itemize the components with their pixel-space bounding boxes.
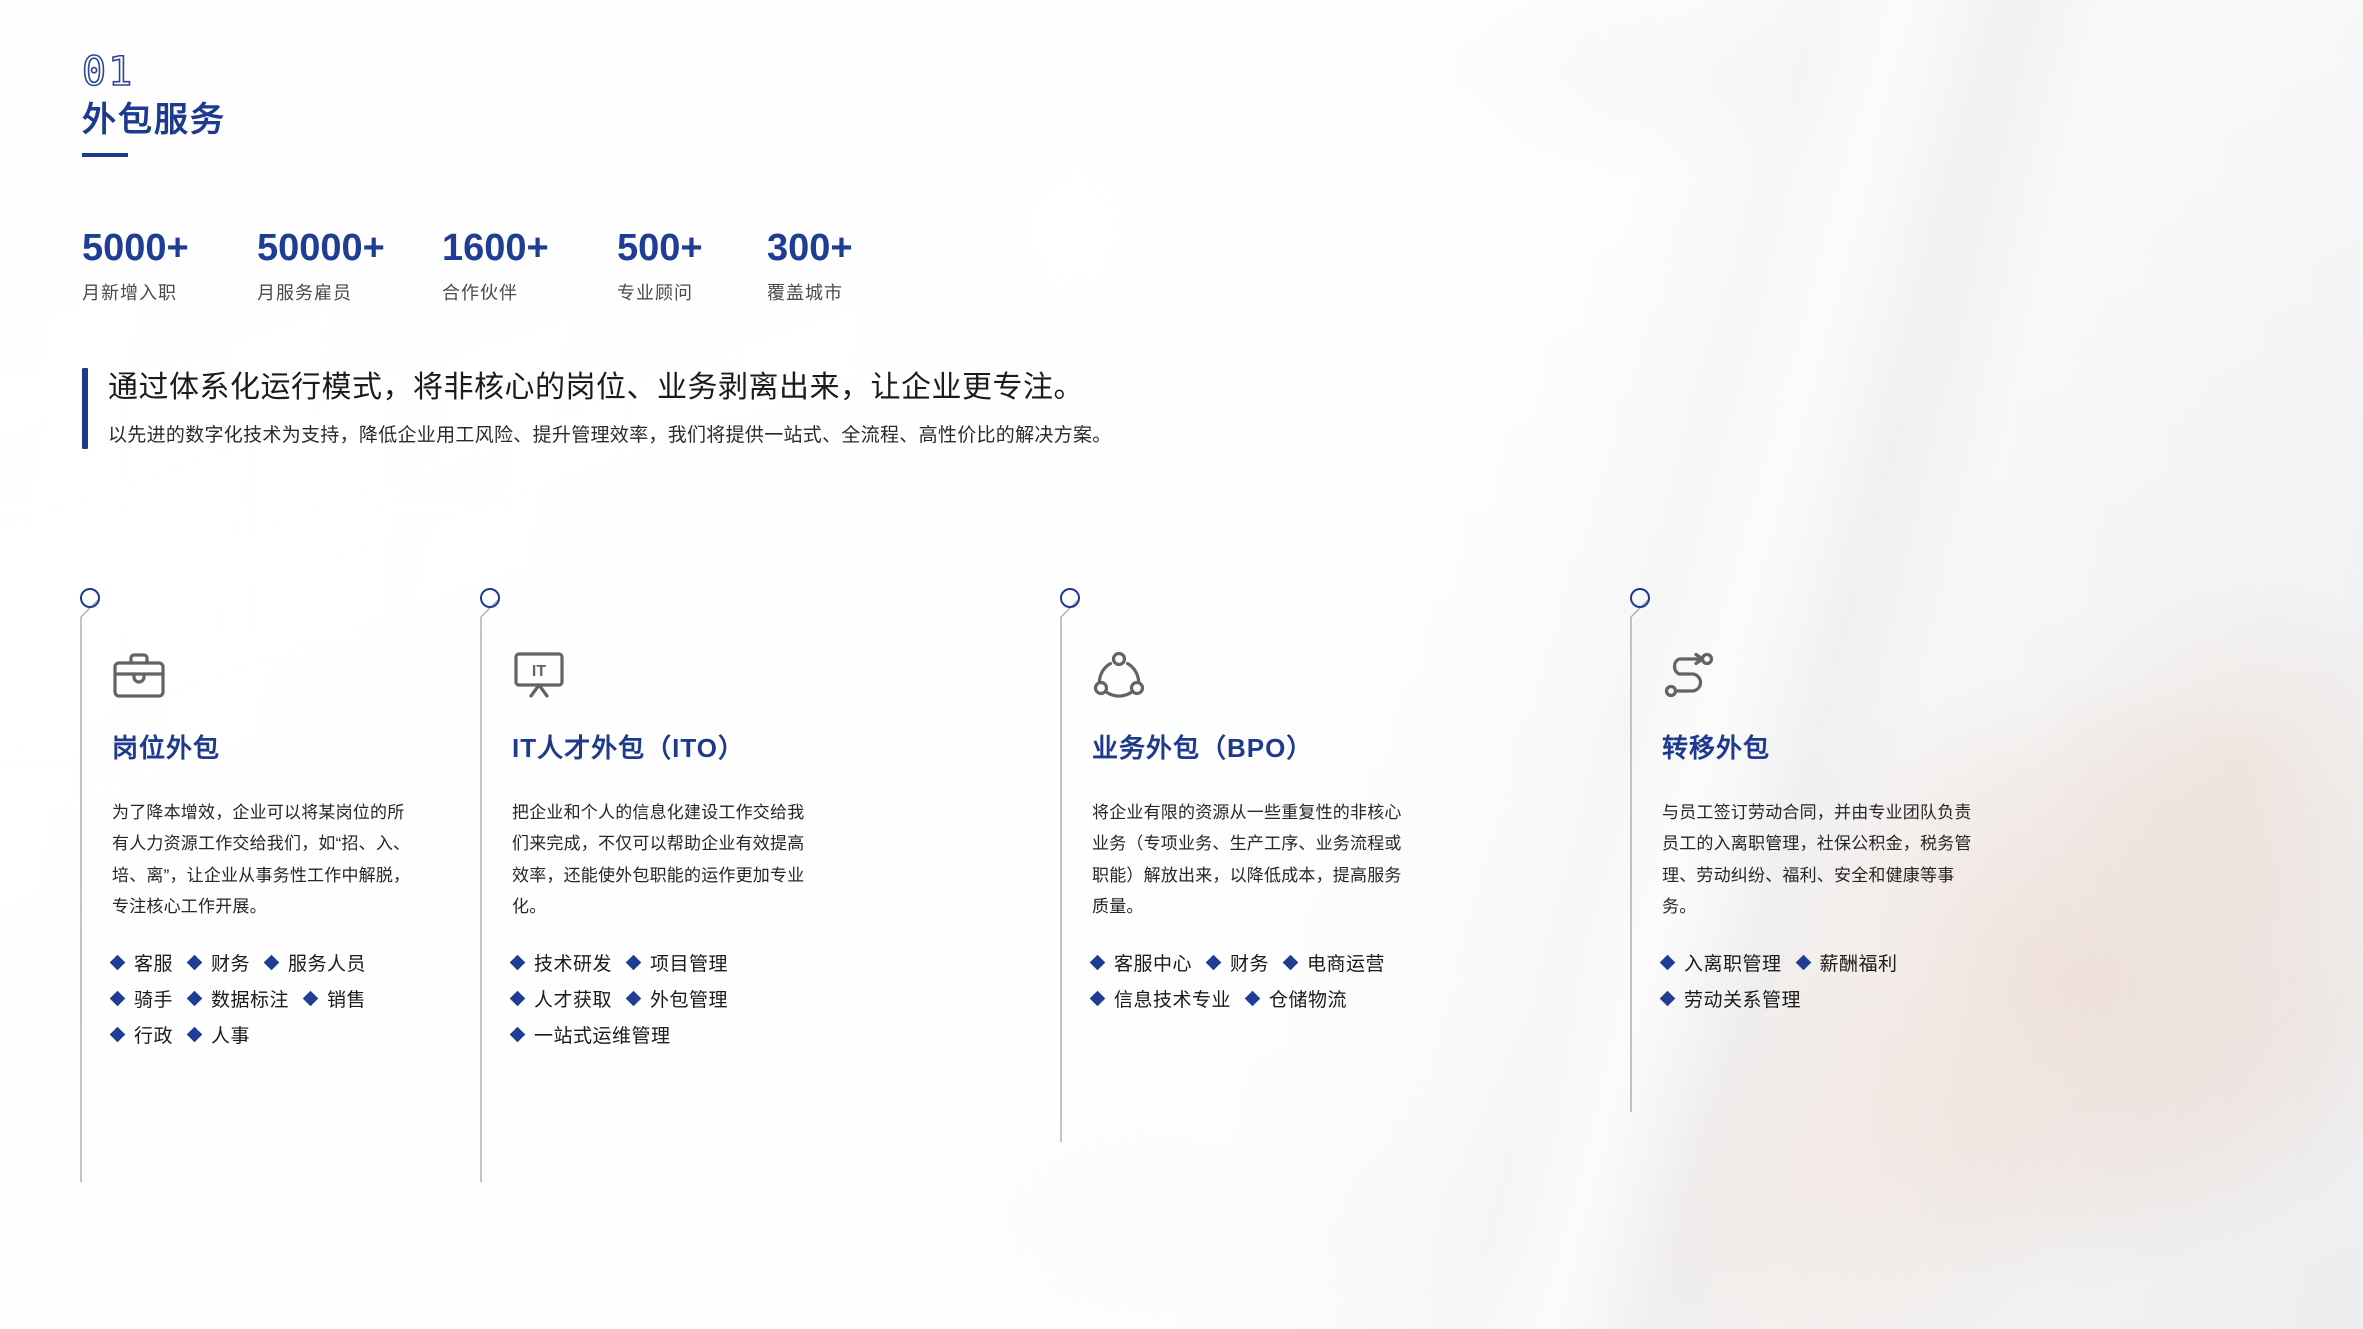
tag-label: 行政 [134,1021,173,1048]
card-marker-dot [80,588,100,608]
stat-value: 300+ [767,228,917,270]
diamond-bullet-icon [110,990,126,1006]
tag-row: 行政人事 [112,1021,472,1048]
card-tag-list: 技术研发项目管理人才获取外包管理一站式运维管理 [512,949,1052,1048]
diamond-bullet-icon [510,1026,526,1042]
tag-label: 财务 [211,949,250,976]
diamond-bullet-icon [303,990,319,1006]
tag-item[interactable]: 销售 [305,985,366,1012]
card-frame-line [472,588,502,1188]
diamond-bullet-icon [1660,990,1676,1006]
tag-label: 人才获取 [534,985,612,1012]
tag-item[interactable]: 数据标注 [189,985,289,1012]
card-title: 业务外包（BPO） [1092,728,1622,765]
card-marker-dot [1630,588,1650,608]
tag-row: 骑手数据标注销售 [112,985,472,1012]
card-tag-list: 客服中心财务电商运营信息技术专业仓储物流 [1092,949,1622,1012]
tag-item[interactable]: 技术研发 [512,949,612,976]
stat-label: 月新增入职 [82,279,257,305]
tag-item[interactable]: 一站式运维管理 [512,1021,671,1048]
service-cards: 岗位外包为了降本增效，企业可以将某岗位的所有人力资源工作交给我们，如“招、入、培… [72,588,2162,1057]
diamond-bullet-icon [510,954,526,970]
diamond-bullet-icon [110,1026,126,1042]
tag-label: 骑手 [134,985,173,1012]
tag-item[interactable]: 信息技术专业 [1092,985,1231,1012]
stat-label: 月服务雇员 [257,279,442,305]
tag-row: 客服财务服务人员 [112,949,472,976]
stat-item: 5000+月新增入职 [82,228,257,305]
stat-value: 5000+ [82,228,257,270]
tag-item[interactable]: 行政 [112,1021,173,1048]
tag-item[interactable]: 项目管理 [628,949,728,976]
diamond-bullet-icon [1283,954,1299,970]
service-card[interactable]: 转移外包与员工签订劳动合同，并由专业团队负责员工的入离职管理，社保公积金，税务管… [1622,588,2162,1057]
tag-item[interactable]: 人才获取 [512,985,612,1012]
tag-label: 电商运营 [1307,949,1385,976]
headline-sub-text: 以先进的数字化技术为支持，降低企业用工风险、提升管理效率，我们将提供一站式、全流… [108,423,1112,450]
diamond-bullet-icon [1245,990,1261,1006]
tag-item[interactable]: 仓储物流 [1247,985,1347,1012]
tag-row: 信息技术专业仓储物流 [1092,985,1622,1012]
diamond-bullet-icon [187,954,203,970]
stat-item: 300+覆盖城市 [767,228,917,305]
tag-label: 服务人员 [288,949,366,976]
diamond-bullet-icon [1206,954,1222,970]
card-title: 岗位外包 [112,728,472,765]
stat-value: 500+ [617,228,767,270]
stat-label: 覆盖城市 [767,279,917,305]
card-description: 把企业和个人的信息化建设工作交给我们来完成，不仅可以帮助企业有效提高效率，还能使… [512,797,812,923]
it-monitor-icon: IT [512,650,1052,702]
diamond-bullet-icon [187,1026,203,1042]
headline-accent-bar [82,368,88,449]
tag-row: 一站式运维管理 [512,1021,1052,1048]
diamond-bullet-icon [1795,954,1811,970]
stats-row: 5000+月新增入职50000+月服务雇员1600+合作伙伴500+专业顾问30… [82,228,917,305]
card-description: 将企业有限的资源从一些重复性的非核心业务（专项业务、生产工序、业务流程或职能）解… [1092,797,1412,923]
transfer-path-icon [1662,650,2162,702]
tag-item[interactable]: 入离职管理 [1662,949,1782,976]
card-tag-list: 客服财务服务人员骑手数据标注销售行政人事 [112,949,472,1048]
title-underline [82,153,128,157]
outsourcing-service-page: 01 外包服务 5000+月新增入职50000+月服务雇员1600+合作伙伴50… [0,0,2363,1329]
stat-item: 1600+合作伙伴 [442,228,617,305]
tag-item[interactable]: 财务 [1208,949,1269,976]
tag-item[interactable]: 外包管理 [628,985,728,1012]
tag-label: 一站式运维管理 [534,1021,671,1048]
service-card[interactable]: 岗位外包为了降本增效，企业可以将某岗位的所有人力资源工作交给我们，如“招、入、培… [72,588,472,1057]
tag-item[interactable]: 客服中心 [1092,949,1192,976]
card-frame-line [72,588,102,1188]
tag-label: 信息技术专业 [1114,985,1231,1012]
service-card[interactable]: 业务外包（BPO）将企业有限的资源从一些重复性的非核心业务（专项业务、生产工序、… [1052,588,1622,1057]
tag-item[interactable]: 客服 [112,949,173,976]
card-title: 转移外包 [1662,728,2162,765]
card-tag-list: 入离职管理薪酬福利劳动关系管理 [1662,949,2162,1012]
tag-label: 薪酬福利 [1820,949,1898,976]
svg-text:IT: IT [532,663,546,680]
tag-row: 入离职管理薪酬福利 [1662,949,2162,976]
tag-item[interactable]: 薪酬福利 [1798,949,1898,976]
diamond-bullet-icon [1090,954,1106,970]
tag-label: 入离职管理 [1684,949,1782,976]
card-description: 与员工签订劳动合同，并由专业团队负责员工的入离职管理，社保公积金，税务管理、劳动… [1662,797,1982,923]
tag-label: 销售 [327,985,366,1012]
tag-label: 项目管理 [650,949,728,976]
tag-item[interactable]: 骑手 [112,985,173,1012]
briefcase-icon [112,650,472,702]
section-number: 01 [82,52,226,92]
tag-label: 客服 [134,949,173,976]
tag-row: 技术研发项目管理 [512,949,1052,976]
headline-main-text: 通过体系化运行模式，将非核心的岗位、业务剥离出来，让企业更专注。 [108,368,1112,409]
stat-value: 1600+ [442,228,617,270]
card-description: 为了降本增效，企业可以将某岗位的所有人力资源工作交给我们，如“招、入、培、离”，… [112,797,412,923]
tag-label: 外包管理 [650,985,728,1012]
network-share-icon [1092,650,1622,702]
tag-item[interactable]: 服务人员 [266,949,366,976]
stat-label: 专业顾问 [617,279,767,305]
tag-row: 人才获取外包管理 [512,985,1052,1012]
diamond-bullet-icon [626,954,642,970]
tag-item[interactable]: 财务 [189,949,250,976]
diamond-bullet-icon [110,954,126,970]
page-title: 外包服务 [82,100,226,141]
card-title: IT人才外包（ITO） [512,728,1052,765]
service-card[interactable]: ITIT人才外包（ITO）把企业和个人的信息化建设工作交给我们来完成，不仅可以帮… [472,588,1052,1057]
diamond-bullet-icon [510,990,526,1006]
tag-label: 人事 [211,1021,250,1048]
card-marker-dot [1060,588,1080,608]
tag-label: 仓储物流 [1269,985,1347,1012]
card-marker-dot [480,588,500,608]
tag-row: 劳动关系管理 [1662,985,2162,1012]
tag-label: 技术研发 [534,949,612,976]
headline-block: 通过体系化运行模式，将非核心的岗位、业务剥离出来，让企业更专注。 以先进的数字化… [82,368,1112,449]
card-frame-line [1052,588,1082,1148]
card-frame-line [1622,588,1652,1118]
diamond-bullet-icon [1090,990,1106,1006]
tag-label: 劳动关系管理 [1684,985,1801,1012]
tag-label: 数据标注 [211,985,289,1012]
tag-label: 财务 [1230,949,1269,976]
stat-label: 合作伙伴 [442,279,617,305]
diamond-bullet-icon [626,990,642,1006]
tag-row: 客服中心财务电商运营 [1092,949,1622,976]
diamond-bullet-icon [187,990,203,1006]
stat-item: 50000+月服务雇员 [257,228,442,305]
diamond-bullet-icon [1660,954,1676,970]
stat-item: 500+专业顾问 [617,228,767,305]
tag-item[interactable]: 电商运营 [1285,949,1385,976]
diamond-bullet-icon [264,954,280,970]
tag-item[interactable]: 劳动关系管理 [1662,985,1801,1012]
stat-value: 50000+ [257,228,442,270]
tag-item[interactable]: 人事 [189,1021,250,1048]
tag-label: 客服中心 [1114,949,1192,976]
section-header: 01 外包服务 [82,52,226,157]
